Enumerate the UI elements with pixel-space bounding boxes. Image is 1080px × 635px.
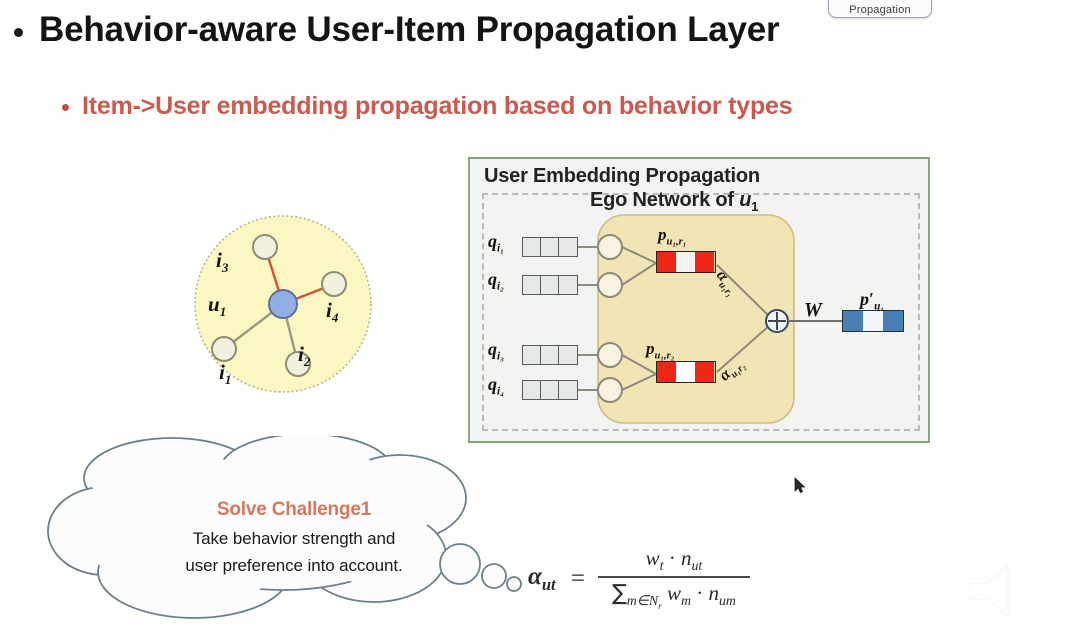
formula-lhs: αut — [528, 563, 562, 590]
label-i3: i3 — [216, 248, 228, 276]
subtitle-bullet-row: Item->User embedding propagation based o… — [62, 86, 792, 126]
input-vector-qi2 — [522, 275, 578, 295]
ego-network-illustration: i3 i4 i1 i2 u1 — [186, 212, 386, 400]
label-q-i2: qi₂ — [488, 269, 504, 293]
ego-network-subtitle: Ego Network of u1 — [590, 189, 758, 214]
label-u1: u1 — [208, 292, 226, 320]
propagation-tab-label: Propagation — [849, 4, 911, 16]
input-vector-qi1 — [522, 237, 578, 257]
label-i2: i2 — [298, 342, 310, 370]
label-i4: i4 — [326, 298, 338, 326]
page-title: Behavior-aware User-Item Propagation Lay… — [39, 6, 779, 54]
formula-fraction: wt · nut ∑m∈Nr wm · num — [598, 546, 750, 611]
thought-bubble: Solve Challenge1 Take behavior strength … — [44, 436, 544, 630]
page-subtitle: Item->User embedding propagation based o… — [82, 86, 792, 126]
sub-bullet-point-icon — [62, 104, 69, 111]
node-u1 — [269, 290, 297, 318]
formula-numerator: wt · nut — [598, 546, 750, 576]
bubble-tail-2 — [482, 564, 506, 588]
label-i1: i1 — [219, 360, 231, 388]
attention-weight-formula: αut = wt · nut ∑m∈Nr wm · num — [528, 546, 750, 611]
label-q-i3: qi₃ — [488, 339, 504, 363]
output-vector-p-u1 — [842, 310, 904, 332]
node-i3 — [253, 235, 277, 259]
mouse-pointer — [794, 477, 806, 494]
speaker-volume-icon — [962, 556, 1072, 626]
input-vector-qi4 — [522, 380, 578, 400]
agg-node-i1 — [598, 235, 622, 259]
thought-bubble-headline: Solve Challenge1 — [144, 496, 444, 523]
input-vector-qi3 — [522, 345, 578, 365]
behavior-vector-r1 — [656, 251, 716, 273]
ego-network-box — [598, 215, 794, 423]
label-q-i1: qi₁ — [488, 231, 504, 255]
node-i4 — [322, 272, 346, 296]
bubble-tail-1 — [440, 544, 480, 584]
propagation-tab-button[interactable]: Propagation — [828, 0, 932, 18]
bullet-point-icon — [14, 28, 23, 37]
user-embedding-propagation-diagram: User Embedding Propagation Ego Network o — [468, 157, 930, 443]
thought-bubble-line2: user preference into account. — [144, 552, 444, 579]
agg-node-i4 — [598, 378, 622, 402]
thought-bubble-line1: Take behavior strength and — [144, 525, 444, 552]
behavior-vector-r2 — [656, 361, 716, 383]
label-p-u1r1: pu₁,r₁ — [658, 225, 686, 247]
formula-denominator: ∑m∈Nr wm · num — [598, 576, 750, 611]
agg-node-i3 — [598, 343, 622, 367]
label-q-i4: qi₄ — [488, 374, 504, 398]
title-bullet-row: Behavior-aware User-Item Propagation Lay… — [14, 6, 779, 54]
label-weight-W: W — [804, 299, 822, 322]
formula-equals: = — [571, 565, 585, 592]
label-p-u1r2: pu₁,r₂ — [646, 339, 674, 361]
thought-bubble-text: Solve Challenge1 Take behavior strength … — [144, 496, 444, 579]
bubble-tail-3 — [507, 577, 521, 591]
agg-node-i2 — [598, 273, 622, 297]
node-i1 — [212, 337, 236, 361]
